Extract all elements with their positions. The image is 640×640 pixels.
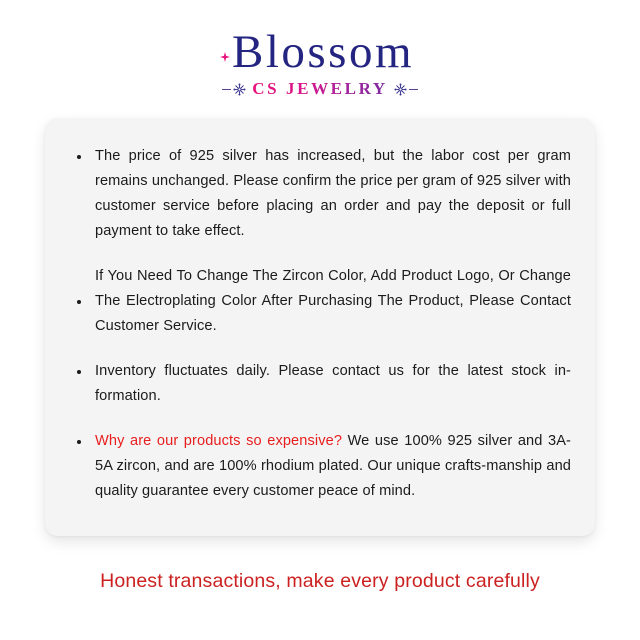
list-item: The price of 925 silver has increased, b… [71, 144, 571, 244]
list-item: If You Need To Change The Zircon Color, … [71, 264, 571, 339]
bullet-text-customization-notice: If You Need To Change The Zircon Color, … [95, 268, 571, 334]
footer-tagline: Honest transactions, make every product … [0, 570, 640, 593]
bullet-marker [77, 300, 81, 304]
brand-wordmark: Blossom [226, 28, 414, 77]
bullet-text-price-notice: The price of 925 silver has increased, b… [95, 148, 571, 239]
bullet-marker [77, 370, 81, 374]
bullet-marker [77, 440, 81, 444]
bullet-text-inventory-notice: Inventory fluctuates daily. Please conta… [95, 363, 571, 404]
brand-subtitle-row: CS JEWELRY [0, 79, 640, 99]
brand-header: Blossom CS JEWELRY [0, 0, 640, 99]
snowflake-icon-left [233, 83, 246, 96]
bullet-question-pricing: Why are our products so expensive? [95, 433, 342, 449]
ornament-dash-right [409, 89, 418, 91]
sparkle-icon [220, 52, 229, 61]
snowflake-icon-right [394, 83, 407, 96]
ornament-dash-left [222, 89, 231, 91]
bullet-marker [77, 155, 81, 159]
brand-wordmark-text: Blossom [232, 26, 414, 78]
ornament-right [394, 83, 418, 96]
ornament-left [222, 83, 246, 96]
list-item: Inventory fluctuates daily. Please conta… [71, 359, 571, 409]
brand-subtitle-text: CS JEWELRY [252, 79, 387, 99]
notice-card: The price of 925 silver has increased, b… [45, 118, 595, 536]
notice-list: The price of 925 silver has increased, b… [71, 144, 571, 504]
list-item: Why are our products so expensive? We us… [71, 429, 571, 504]
